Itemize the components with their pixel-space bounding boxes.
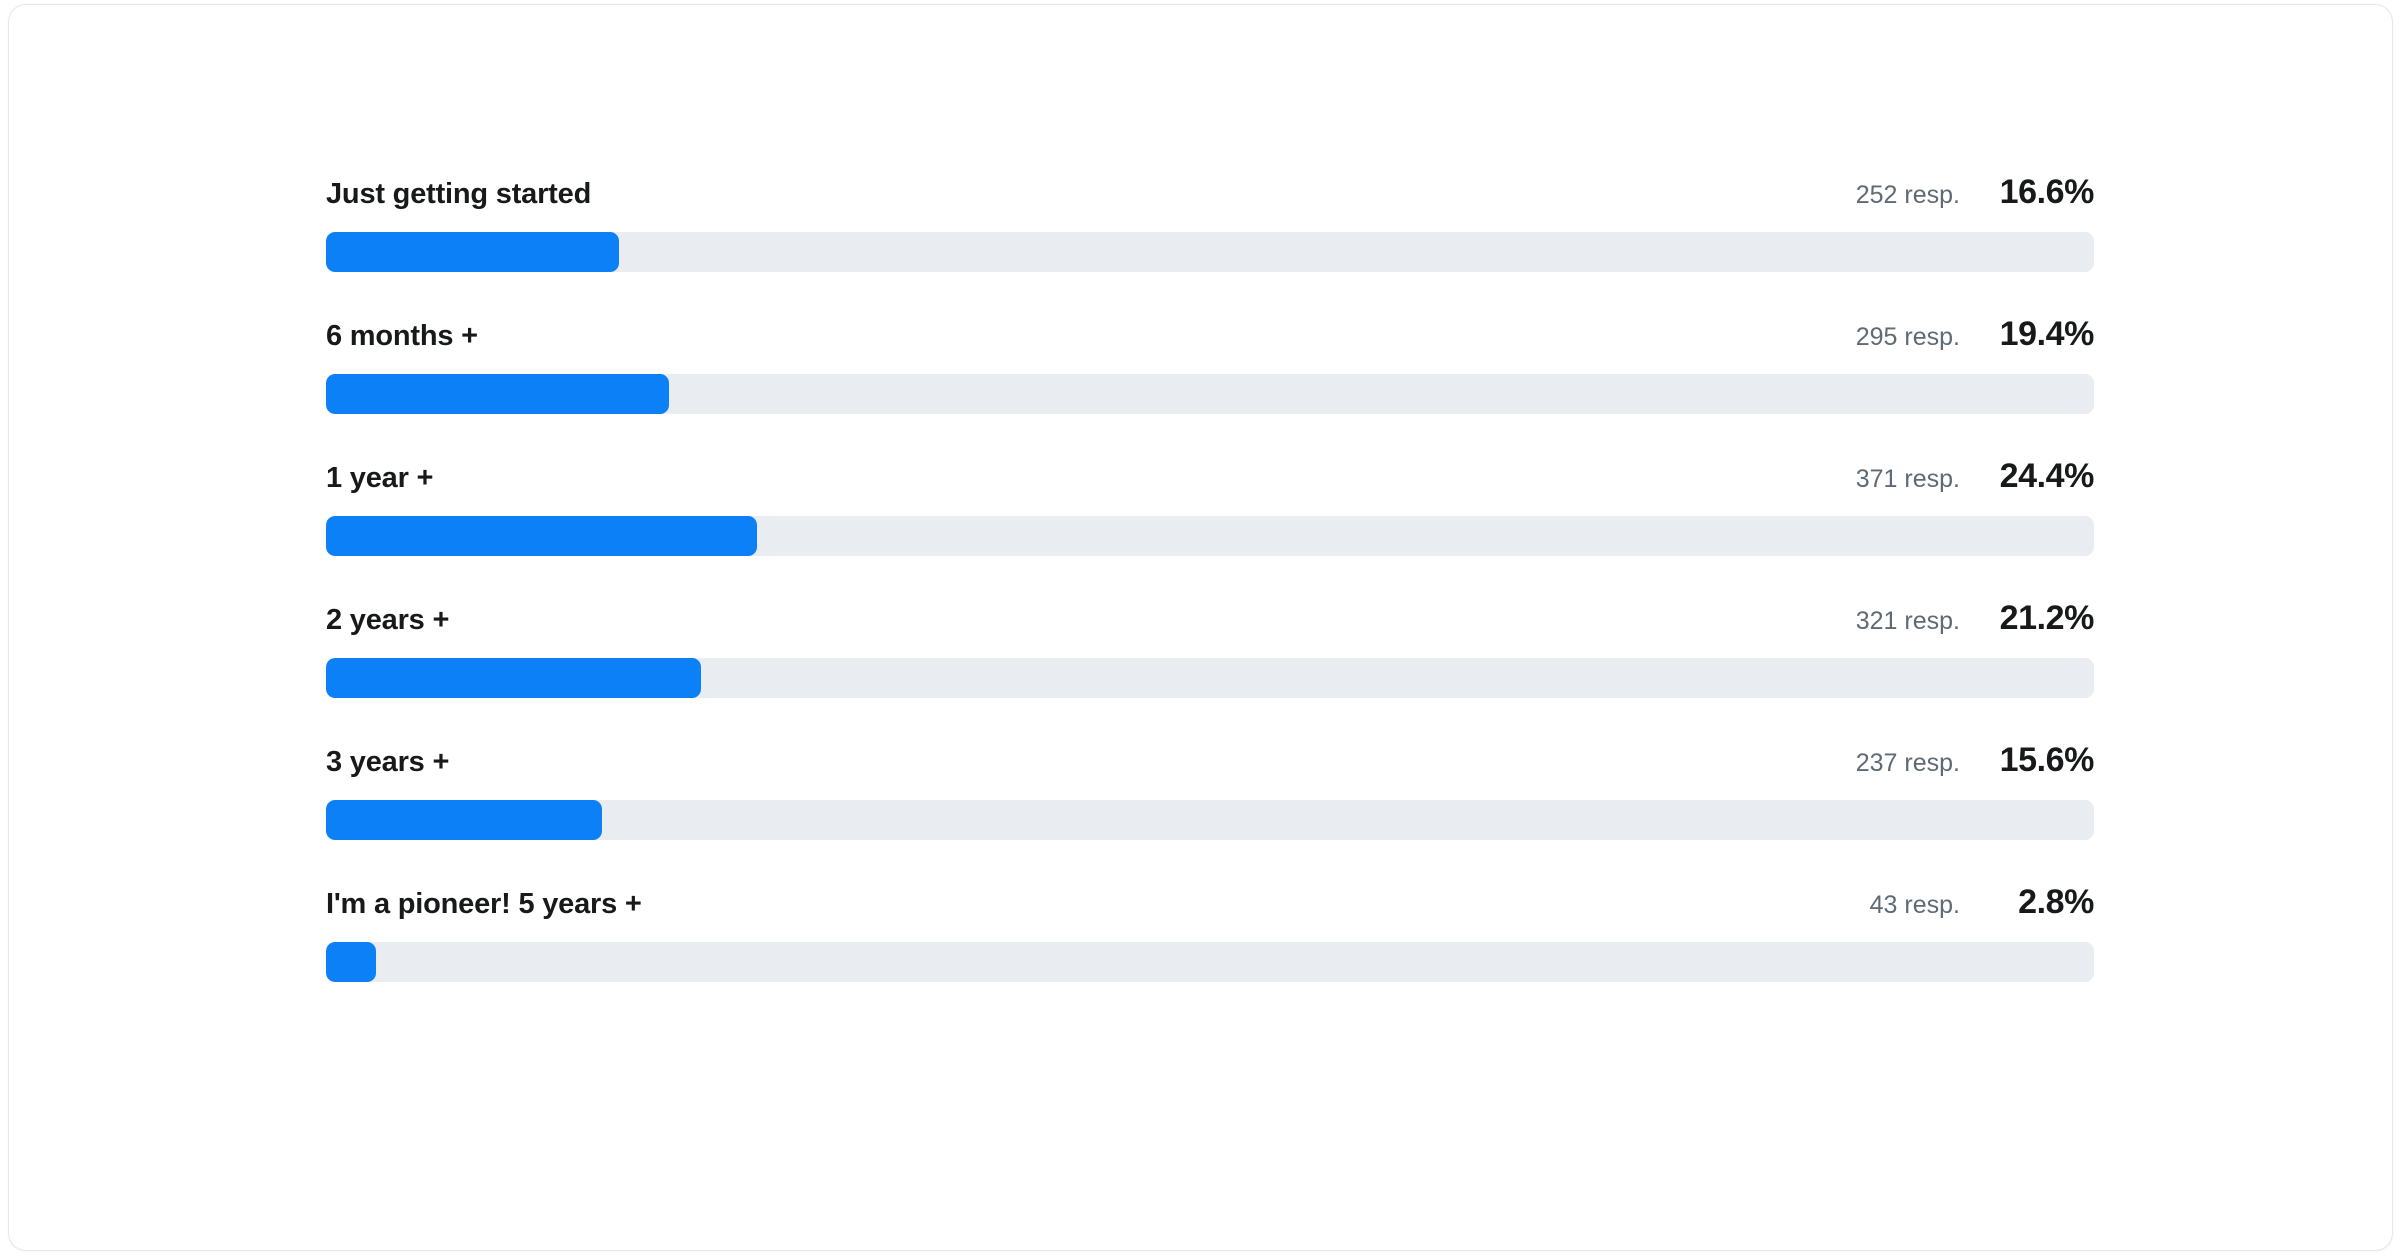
- poll-result-header: 3 years + 237 resp. 15.6%: [326, 743, 2094, 783]
- poll-result-stats: 321 resp. 21.2%: [1856, 601, 2094, 635]
- poll-result-stats: 252 resp. 16.6%: [1856, 175, 2094, 209]
- poll-bar-track: [326, 800, 2094, 840]
- poll-option-label: 3 years +: [326, 748, 449, 777]
- poll-response-count: 371 resp.: [1856, 467, 1960, 492]
- poll-bar-track: [326, 374, 2094, 414]
- poll-percent-value: 24.4%: [1986, 459, 2094, 493]
- poll-result-row: Just getting started 252 resp. 16.6%: [326, 175, 2094, 272]
- poll-bar-track: [326, 232, 2094, 272]
- poll-percent-value: 15.6%: [1986, 743, 2094, 777]
- page-root: Just getting started 252 resp. 16.6% 6 m…: [0, 0, 2400, 1256]
- poll-result-header: Just getting started 252 resp. 16.6%: [326, 175, 2094, 215]
- poll-percent-value: 21.2%: [1986, 601, 2094, 635]
- poll-response-count: 295 resp.: [1856, 325, 1960, 350]
- poll-result-header: 2 years + 321 resp. 21.2%: [326, 601, 2094, 641]
- poll-bar-track: [326, 942, 2094, 982]
- poll-result-row: I'm a pioneer! 5 years + 43 resp. 2.8%: [326, 885, 2094, 982]
- poll-results-chart: Just getting started 252 resp. 16.6% 6 m…: [326, 175, 2094, 982]
- poll-result-row: 2 years + 321 resp. 21.2%: [326, 601, 2094, 698]
- poll-result-stats: 43 resp. 2.8%: [1870, 885, 2094, 919]
- poll-result-row: 1 year + 371 resp. 24.4%: [326, 459, 2094, 556]
- poll-option-label: I'm a pioneer! 5 years +: [326, 890, 642, 919]
- poll-result-row: 3 years + 237 resp. 15.6%: [326, 743, 2094, 840]
- poll-result-row: 6 months + 295 resp. 19.4%: [326, 317, 2094, 414]
- poll-option-label: 6 months +: [326, 322, 478, 351]
- poll-option-label: 1 year +: [326, 464, 433, 493]
- poll-result-header: 1 year + 371 resp. 24.4%: [326, 459, 2094, 499]
- poll-bar-track: [326, 516, 2094, 556]
- poll-response-count: 237 resp.: [1856, 751, 1960, 776]
- poll-result-stats: 295 resp. 19.4%: [1856, 317, 2094, 351]
- poll-response-count: 252 resp.: [1856, 183, 1960, 208]
- poll-response-count: 321 resp.: [1856, 609, 1960, 634]
- poll-bar-fill: [326, 374, 669, 414]
- poll-percent-value: 19.4%: [1986, 317, 2094, 351]
- poll-result-header: I'm a pioneer! 5 years + 43 resp. 2.8%: [326, 885, 2094, 925]
- poll-bar-fill: [326, 232, 619, 272]
- poll-bar-track: [326, 658, 2094, 698]
- poll-result-stats: 371 resp. 24.4%: [1856, 459, 2094, 493]
- poll-response-count: 43 resp.: [1870, 893, 1960, 918]
- poll-result-header: 6 months + 295 resp. 19.4%: [326, 317, 2094, 357]
- poll-percent-value: 16.6%: [1986, 175, 2094, 209]
- poll-bar-fill: [326, 516, 757, 556]
- poll-bar-fill: [326, 800, 602, 840]
- poll-result-stats: 237 resp. 15.6%: [1856, 743, 2094, 777]
- poll-percent-value: 2.8%: [1986, 885, 2094, 919]
- poll-option-label: 2 years +: [326, 606, 449, 635]
- poll-bar-fill: [326, 942, 376, 982]
- poll-bar-fill: [326, 658, 701, 698]
- poll-option-label: Just getting started: [326, 180, 591, 209]
- results-card: Just getting started 252 resp. 16.6% 6 m…: [8, 4, 2393, 1251]
